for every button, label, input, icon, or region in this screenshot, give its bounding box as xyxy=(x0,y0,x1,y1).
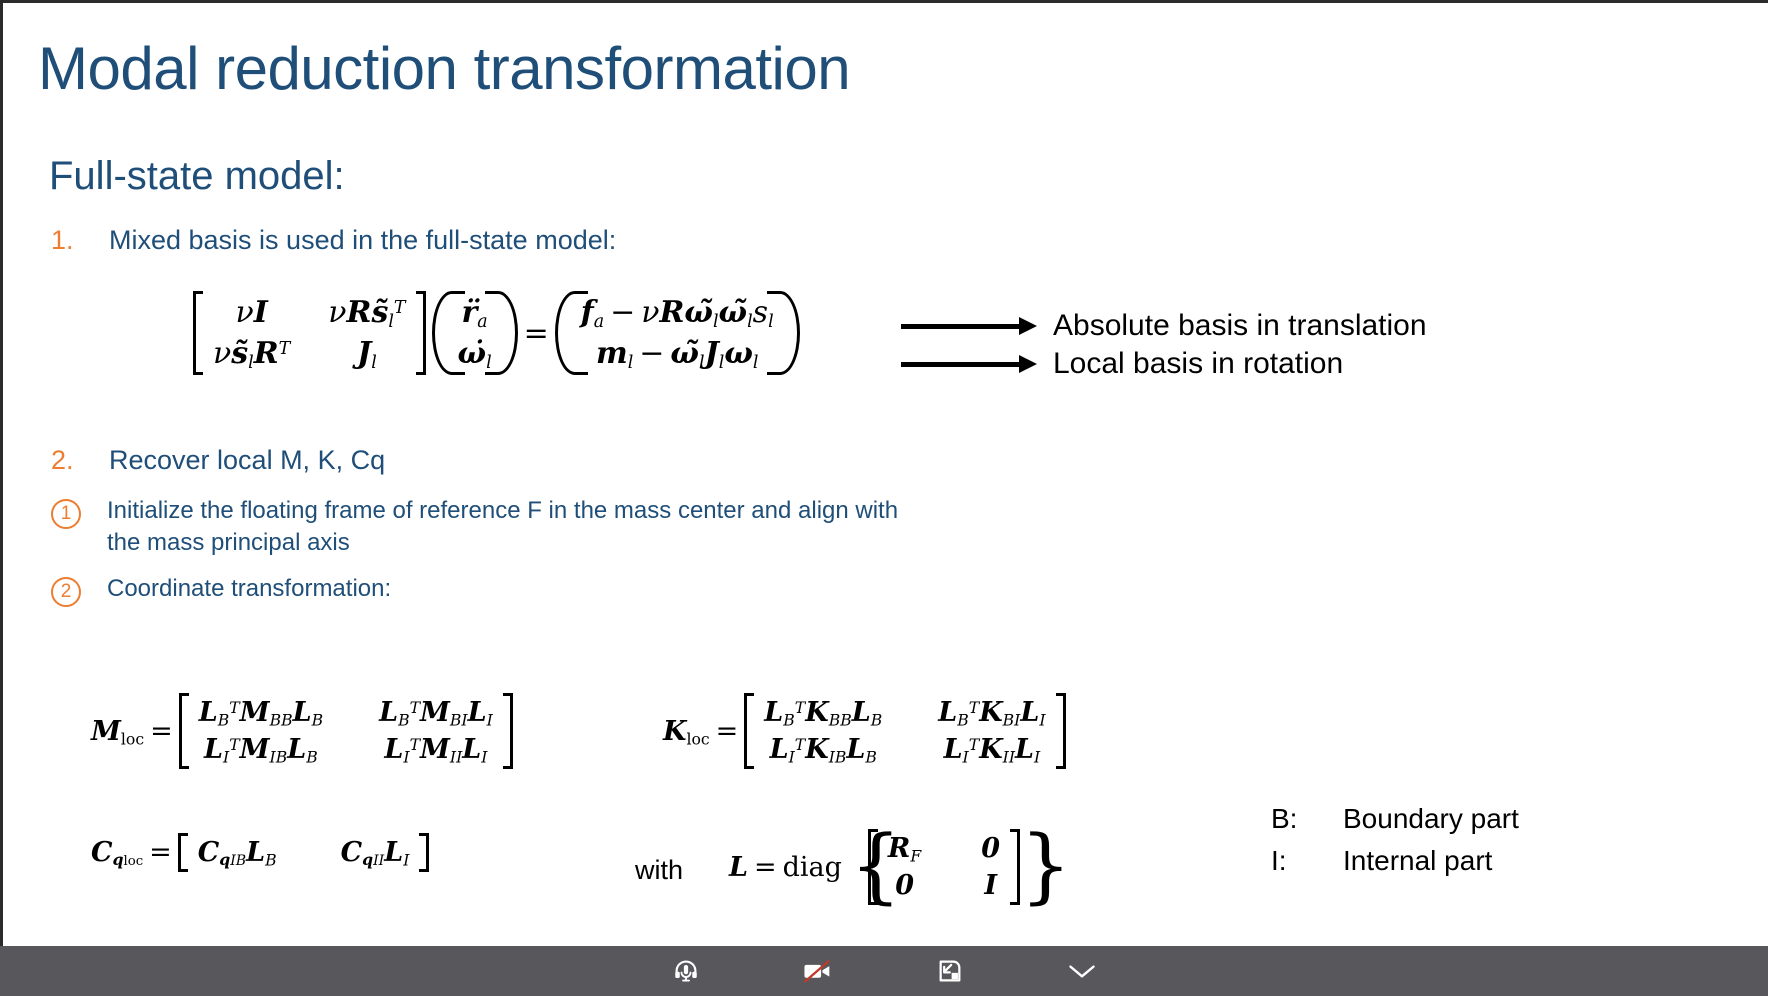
list-item: 2. Recover local M, K, Cq xyxy=(51,443,385,477)
list-item-label: Mixed basis is used in the full-state mo… xyxy=(109,223,616,257)
equation-stiffness-matrix-local: Kloc = LBTKBBLB LBTKBILI LITKIBLB LITKII… xyxy=(663,693,1066,769)
arrow-icon xyxy=(901,324,1021,329)
annotation-arrow-rotation: Local basis in rotation xyxy=(901,346,1343,382)
restore-window-icon xyxy=(936,957,964,985)
equation-full-state-model: νI νRs̃lT νs̃lRT Jl r̈a ω̇l = xyxy=(193,291,800,383)
list-item: 1. Mixed basis is used in the full-state… xyxy=(51,223,616,257)
legend-key: B: xyxy=(1271,798,1343,840)
sub-list-item: 1 Initialize the floating frame of refer… xyxy=(51,495,1051,559)
page-title: Modal reduction transformation xyxy=(38,33,850,105)
with-keyword: with xyxy=(635,855,683,886)
camera-off-icon xyxy=(802,956,834,986)
circled-number-marker: 1 xyxy=(51,495,107,529)
list-item-label: Recover local M, K, Cq xyxy=(109,443,385,477)
audio-button[interactable] xyxy=(663,951,709,991)
sub-list-item: 2 Coordinate transformation: xyxy=(51,573,391,607)
video-button[interactable] xyxy=(795,951,841,991)
section-heading: Full-state model: xyxy=(49,151,345,201)
legend-row: B: Boundary part xyxy=(1271,798,1519,840)
restore-window-button[interactable] xyxy=(927,951,973,991)
legend-value: Internal part xyxy=(1343,840,1492,882)
presentation-slide: Modal reduction transformation Full-stat… xyxy=(0,0,1768,946)
list-marker: 2. xyxy=(51,443,109,477)
sub-list-item-label: Coordinate transformation: xyxy=(107,573,391,605)
more-options-button[interactable] xyxy=(1059,951,1105,991)
annotation-label: Local basis in rotation xyxy=(1053,346,1343,382)
meeting-toolbar xyxy=(0,946,1768,996)
left-brace: { xyxy=(850,829,868,905)
headset-mic-icon xyxy=(671,956,701,986)
annotation-arrow-translation: Absolute basis in translation xyxy=(901,308,1427,344)
list-marker: 1. xyxy=(51,223,109,257)
annotation-label: Absolute basis in translation xyxy=(1053,308,1427,344)
legend-key: I: xyxy=(1271,840,1343,882)
circled-number-marker: 2 xyxy=(51,573,107,607)
right-brace: } xyxy=(1020,829,1038,905)
equation-mass-matrix-local: Mloc = LBTMBBLB LBTMBILI LITMIBLB LITMII… xyxy=(91,693,513,769)
legend: B: Boundary part I: Internal part xyxy=(1271,798,1519,882)
equation-constraint-jacobian-local: Cqloc = CqIBLB CqIILI xyxy=(91,833,429,872)
chevron-down-icon xyxy=(1067,960,1097,982)
equation-transformation-matrix: L = diag { RF 0 0 I } xyxy=(729,829,1038,905)
sub-list-item-label: Initialize the floating frame of referen… xyxy=(107,495,937,559)
legend-value: Boundary part xyxy=(1343,798,1519,840)
legend-row: I: Internal part xyxy=(1271,840,1519,882)
screen-share-window: Modal reduction transformation Full-stat… xyxy=(0,0,1768,996)
arrow-icon xyxy=(901,362,1021,367)
diag-operator: diag xyxy=(783,852,842,883)
